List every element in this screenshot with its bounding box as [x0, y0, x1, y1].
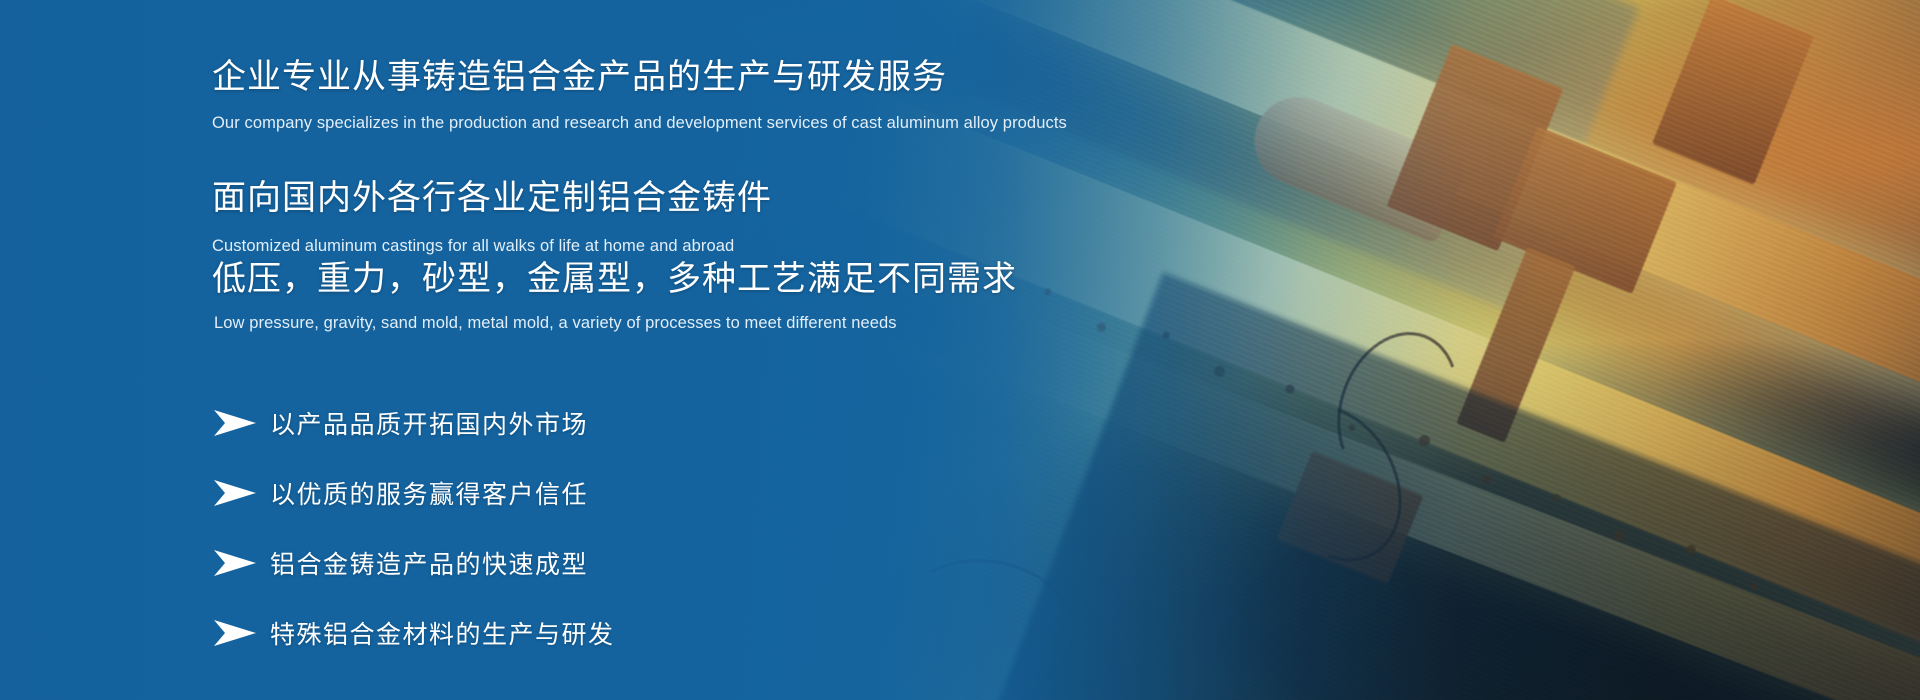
- feature-list: 以产品品质开拓国内外市场 以优质的服务赢得客户信任 铝合金铸造产品的快速成型 特…: [212, 388, 615, 668]
- list-item-label: 铝合金铸造产品的快速成型: [270, 545, 588, 581]
- heading-group-3: 低压，重力，砂型，金属型，多种工艺满足不同需求 Low pressure, gr…: [212, 258, 1017, 334]
- heading-3-cn: 低压，重力，砂型，金属型，多种工艺满足不同需求: [212, 258, 1017, 301]
- heading-group-2: 面向国内外各行各业定制铝合金铸件 Customized aluminum cas…: [212, 177, 772, 257]
- heading-group-1: 企业专业从事铸造铝合金产品的生产与研发服务 Our company specia…: [212, 56, 1067, 134]
- heading-1-cn: 企业专业从事铸造铝合金产品的生产与研发服务: [212, 56, 1067, 99]
- list-item[interactable]: 铝合金铸造产品的快速成型: [212, 528, 615, 598]
- arrow-right-icon: [212, 548, 258, 578]
- banner-content: 企业专业从事铸造铝合金产品的生产与研发服务 Our company specia…: [212, 0, 1392, 700]
- heading-3-en: Low pressure, gravity, sand mold, metal …: [214, 313, 1017, 334]
- arrow-right-icon: [212, 618, 258, 648]
- list-item[interactable]: 以优质的服务赢得客户信任: [212, 458, 615, 528]
- arrow-right-icon: [212, 478, 258, 508]
- heading-1-en: Our company specializes in the productio…: [212, 113, 1067, 134]
- heading-2-en: Customized aluminum castings for all wal…: [212, 236, 772, 257]
- list-item-label: 特殊铝合金材料的生产与研发: [270, 615, 615, 651]
- hero-banner: 企业专业从事铸造铝合金产品的生产与研发服务 Our company specia…: [0, 0, 1920, 700]
- heading-2-cn: 面向国内外各行各业定制铝合金铸件: [212, 177, 772, 220]
- arrow-right-icon: [212, 408, 258, 438]
- list-item-label: 以优质的服务赢得客户信任: [270, 475, 588, 511]
- list-item-label: 以产品品质开拓国内外市场: [270, 405, 588, 441]
- list-item[interactable]: 特殊铝合金材料的生产与研发: [212, 598, 615, 668]
- list-item[interactable]: 以产品品质开拓国内外市场: [212, 388, 615, 458]
